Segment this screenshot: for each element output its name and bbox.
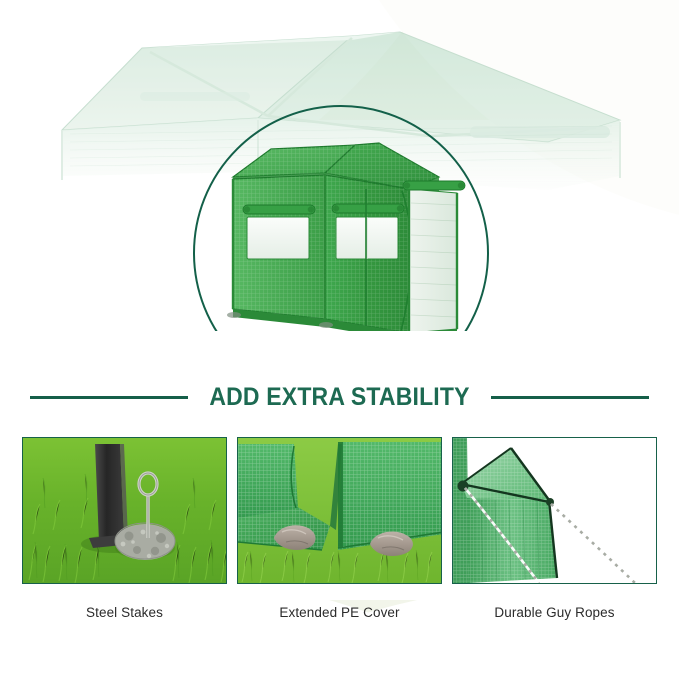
- caption-durable-guy-ropes: Durable Guy Ropes: [452, 605, 657, 620]
- title-rule-left: [30, 396, 188, 399]
- feature-panel-steel-stakes: [22, 437, 227, 584]
- page-title: ADD EXTRA STABILITY: [209, 383, 469, 412]
- durable-guy-ropes-photo: [453, 438, 657, 583]
- title-rule-right: [491, 396, 649, 399]
- walk-in-greenhouse-illustration: [203, 133, 481, 363]
- feature-captions: Steel Stakes Extended PE Cover Durable G…: [22, 605, 657, 620]
- caption-extended-pe-cover: Extended PE Cover: [237, 605, 442, 620]
- product-circle-inset: [193, 105, 493, 405]
- caption-steel-stakes: Steel Stakes: [22, 605, 227, 620]
- section-title-band: ADD EXTRA STABILITY: [0, 380, 679, 414]
- feature-panels: [22, 437, 657, 584]
- infographic-canvas: ADD EXTRA STABILITY: [0, 0, 679, 679]
- extended-pe-cover-photo: [238, 438, 442, 583]
- steel-stake-in-grass-photo: [23, 438, 227, 583]
- feature-panel-durable-guy-ropes: [452, 437, 657, 584]
- feature-panel-extended-pe-cover: [237, 437, 442, 584]
